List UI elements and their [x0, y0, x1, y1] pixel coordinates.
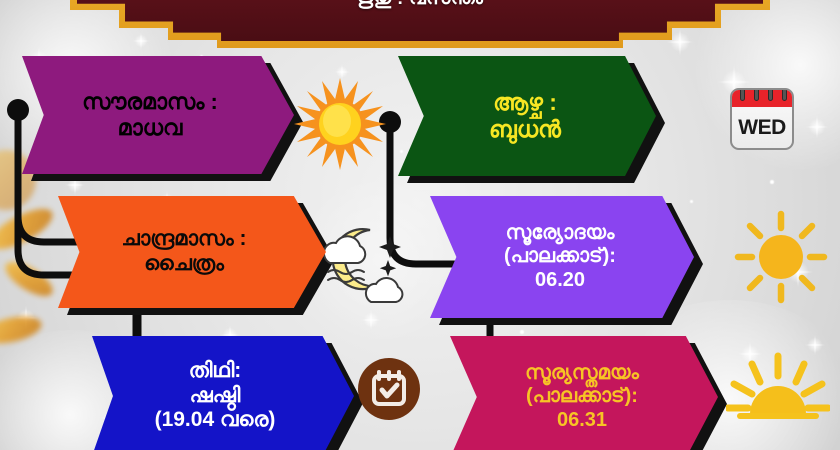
card-text: സൂര്യോദയം (പാലക്കാട്): 06.20 [456, 222, 664, 293]
sun-icon [290, 74, 390, 174]
card-line: 06.31 [476, 409, 688, 433]
card-weekday[interactable]: ആഴ്ച : ബുധൻ [398, 56, 656, 176]
moon-cloud-icon [308, 214, 412, 312]
card-line: ബുധൻ [424, 116, 626, 143]
card-text: സൗരമാസം : മാധവ [36, 89, 264, 141]
card-sunrise[interactable]: സൂര്യോദയം (പാലക്കാട്): 06.20 [430, 196, 694, 318]
card-line: തിഥി: [106, 359, 324, 384]
calendar-check-icon [358, 358, 420, 420]
card-sunset[interactable]: സൂര്യസ്തമയം (പാലക്കാട്): 06.31 [450, 336, 718, 450]
card-solar-month[interactable]: സൗരമാസം : മാധവ [22, 56, 294, 174]
card-text: ചാന്ദ്രമാസം : ചൈത്രം [72, 227, 296, 277]
card-line: സൂര്യസ്തമയം [476, 362, 688, 386]
card-text: സൂര്യസ്തമയം (പാലക്കാട്): 06.31 [476, 362, 688, 433]
card-line: 06.20 [456, 269, 664, 293]
card-line: സൗരമാസം : [36, 89, 264, 115]
card-line: (പാലക്കാട്): [476, 385, 688, 409]
season-label: ഋതു : വസന്തം [70, 0, 770, 10]
card-line: (പാലക്കാട്): [456, 245, 664, 269]
calendar-wednesday-icon: WED [730, 88, 794, 150]
card-line: ആഴ്ച : [424, 89, 626, 116]
card-line: (19.04 വരെ) [106, 408, 324, 433]
card-line: മാധവ [36, 115, 264, 141]
sunset-sun-icon [726, 352, 830, 432]
card-line: ഷഷ്ഠി [106, 384, 324, 409]
sunrise-sun-icon [734, 210, 828, 304]
card-line: ചൈത്രം [72, 252, 296, 277]
card-line: ചാന്ദ്രമാസം : [72, 227, 296, 252]
card-lunar-month[interactable]: ചാന്ദ്രമാസം : ചൈത്രം [58, 196, 326, 308]
season-banner: ഋതു : വസന്തം [70, 0, 770, 48]
card-text: തിഥി: ഷഷ്ഠി (19.04 വരെ) [106, 359, 324, 433]
card-line: സൂര്യോദയം [456, 222, 664, 246]
card-tithi[interactable]: തിഥി: ഷഷ്ഠി (19.04 വരെ) [92, 336, 354, 450]
card-text: ആഴ്ച : ബുധൻ [424, 89, 626, 143]
calendar-day-label: WED [732, 108, 792, 148]
panchangam-infographic: ഋതു : വസന്തം സൗരമാസം : മാധവ [0, 0, 840, 450]
